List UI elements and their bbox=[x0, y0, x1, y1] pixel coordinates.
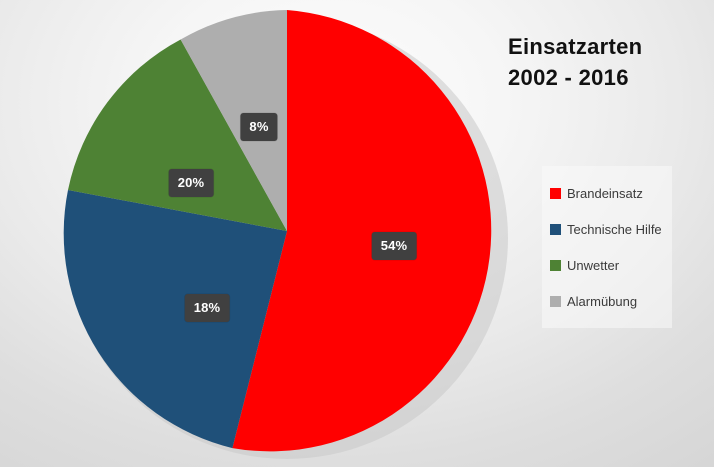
chart-title-line-1: Einsatzarten bbox=[508, 31, 642, 62]
data-label-brandeinsatz: 54% bbox=[372, 232, 417, 260]
legend-item-technische-hilfe[interactable]: Technische Hilfe bbox=[550, 211, 666, 247]
legend-swatch-technische-hilfe bbox=[550, 224, 561, 235]
legend-label-brandeinsatz: Brandeinsatz bbox=[567, 187, 643, 200]
data-label-alarmuebung: 8% bbox=[240, 113, 277, 141]
chart-title: Einsatzarten 2002 - 2016 bbox=[508, 31, 642, 93]
legend-swatch-unwetter bbox=[550, 260, 561, 271]
legend-label-alarmuebung: Alarmübung bbox=[567, 295, 637, 308]
legend-item-alarmuebung[interactable]: Alarmübung bbox=[550, 283, 666, 319]
chart-canvas: 54% 18% 20% 8% Einsatzarten 2002 - 2016 … bbox=[0, 0, 714, 467]
legend-swatch-brandeinsatz bbox=[550, 188, 561, 199]
chart-title-line-2: 2002 - 2016 bbox=[508, 62, 642, 93]
legend-swatch-alarmuebung bbox=[550, 296, 561, 307]
data-label-technische-hilfe: 18% bbox=[185, 294, 230, 322]
legend-label-technische-hilfe: Technische Hilfe bbox=[567, 223, 662, 236]
chart-legend: Brandeinsatz Technische Hilfe Unwetter A… bbox=[542, 166, 672, 328]
data-label-unwetter: 20% bbox=[169, 169, 214, 197]
legend-label-unwetter: Unwetter bbox=[567, 259, 619, 272]
legend-item-unwetter[interactable]: Unwetter bbox=[550, 247, 666, 283]
legend-item-brandeinsatz[interactable]: Brandeinsatz bbox=[550, 175, 666, 211]
